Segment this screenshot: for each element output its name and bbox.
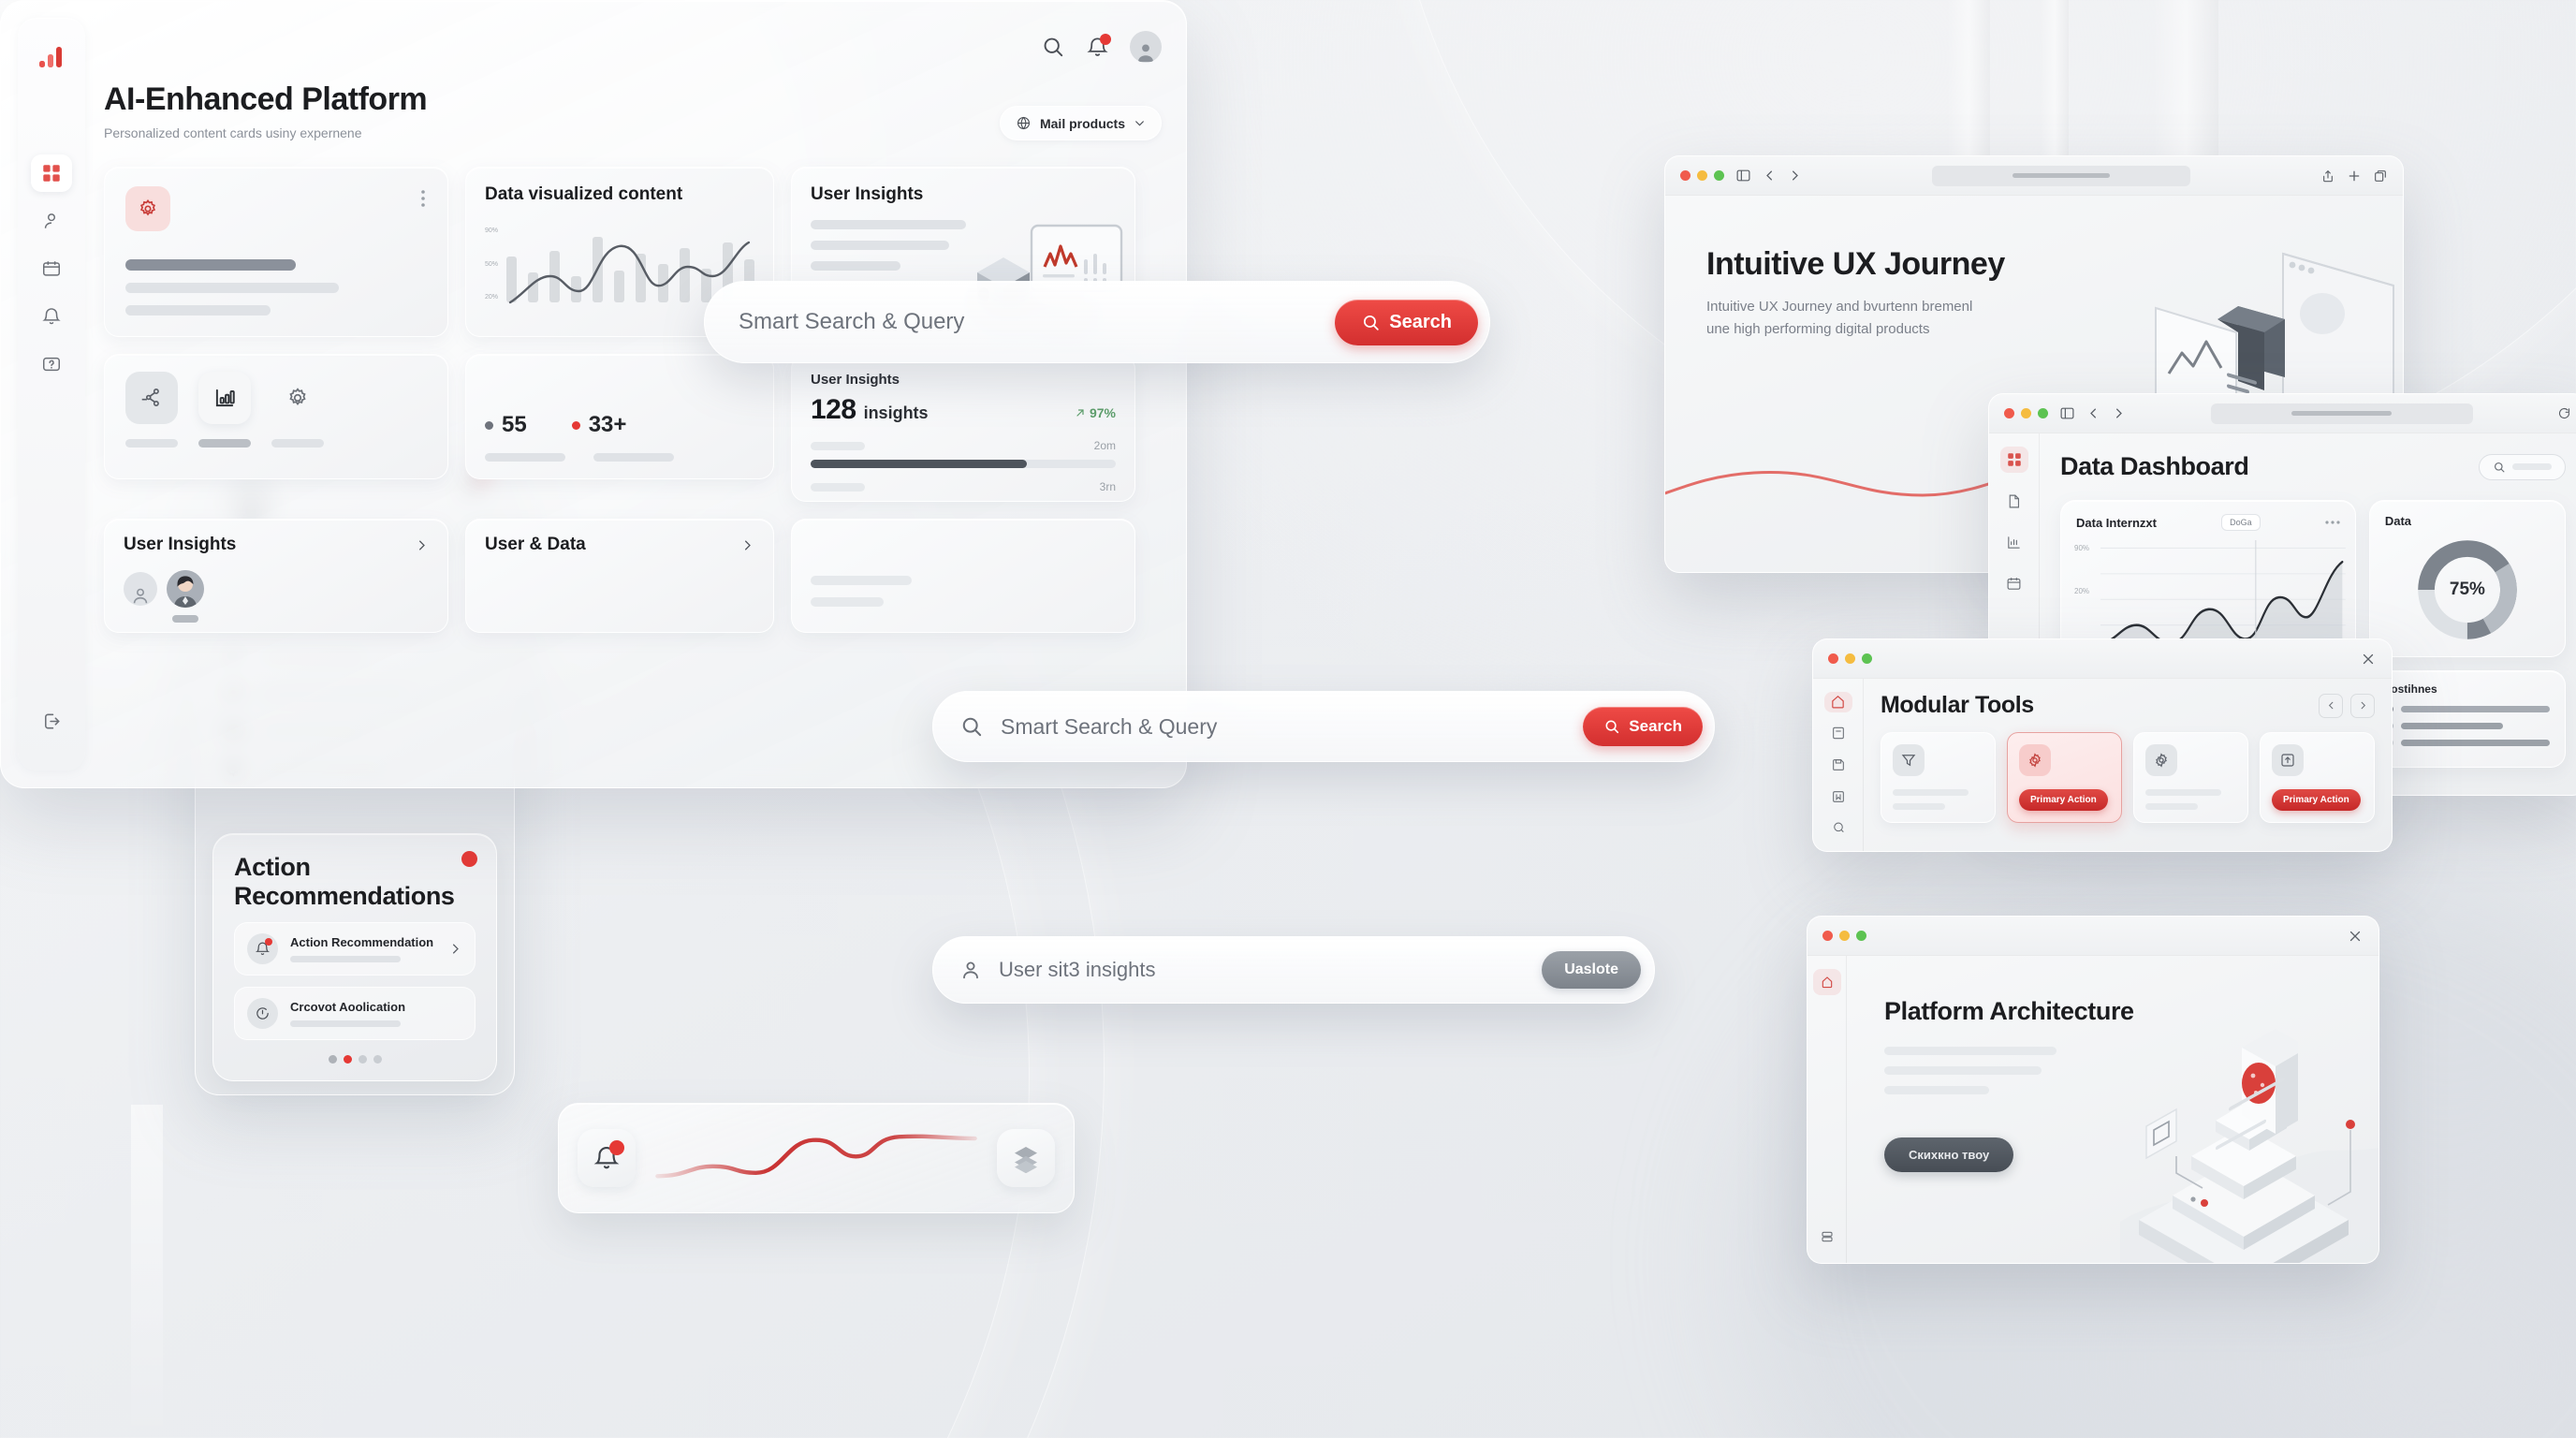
window-title: Data Dashboard xyxy=(2060,452,2248,481)
file-icon xyxy=(2006,493,2022,509)
close-traffic-light[interactable] xyxy=(2004,408,2014,418)
window-titlebar[interactable] xyxy=(1665,156,2403,196)
skeleton-line xyxy=(290,956,401,962)
node-graph-icon xyxy=(139,386,164,410)
sidebar-item-search-doc[interactable] xyxy=(1824,817,1852,838)
action-recommendations-card: Action Recommendations Action Recommenda… xyxy=(212,833,497,1081)
gear-icon xyxy=(137,198,159,220)
maximize-traffic-light[interactable] xyxy=(1862,653,1872,664)
sidebar-item-dashboard[interactable] xyxy=(31,154,72,192)
progress-track xyxy=(811,460,1116,468)
chevron-right-icon xyxy=(2358,700,2368,711)
address-bar[interactable] xyxy=(2211,404,2473,424)
skeleton-line xyxy=(125,305,271,315)
main-dashboard-panel: AI-Enhanced Platform Personalized conten… xyxy=(0,0,1187,788)
minimize-traffic-light[interactable] xyxy=(1839,931,1850,941)
chevron-right-icon[interactable] xyxy=(740,538,754,552)
gear-icon-tile xyxy=(125,186,170,231)
sidebar-item-calendar[interactable] xyxy=(2000,570,2028,596)
search-input-bottom[interactable]: User sit3 insights xyxy=(999,958,1525,982)
window-titlebar[interactable] xyxy=(1808,917,2378,956)
stat-dot xyxy=(485,421,493,430)
calendar-icon xyxy=(41,258,62,279)
card-title: Data Internzxt xyxy=(2076,516,2157,530)
sidebar-item-book[interactable] xyxy=(1824,786,1852,807)
save-icon xyxy=(1831,757,1846,772)
card-title: User & Data xyxy=(485,535,586,555)
grid-icon xyxy=(2006,451,2023,468)
close-icon[interactable] xyxy=(2347,928,2364,945)
skeleton-line xyxy=(811,220,966,229)
insights-unit: insights xyxy=(864,404,929,423)
chart-annotation-badge: DoGa xyxy=(2221,514,2261,531)
skeleton-line xyxy=(811,576,912,585)
user-icon xyxy=(130,585,151,606)
bell-button[interactable] xyxy=(578,1129,636,1187)
card-settings[interactable] xyxy=(104,167,448,337)
sidebar-item-database[interactable] xyxy=(1813,1224,1841,1250)
skeleton-line xyxy=(125,259,296,271)
cta-button-label: Cкиxкно твоу xyxy=(1909,1148,1989,1162)
dashboard-search-input[interactable] xyxy=(2479,454,2566,480)
card-stats[interactable]: 55 33+ xyxy=(465,354,774,479)
tool-card-filter[interactable] xyxy=(1881,732,1996,823)
filter-icon-tile xyxy=(1893,744,1925,776)
sidebar-item-grid[interactable] xyxy=(2000,447,2028,473)
chevron-left-icon xyxy=(2326,700,2336,711)
database-icon xyxy=(1820,1229,1835,1244)
skeleton-line xyxy=(1884,1047,2056,1055)
calendar-icon xyxy=(2006,576,2022,592)
export-icon-tile xyxy=(2272,744,2304,776)
donut-center-label: 75% xyxy=(2450,580,2485,600)
skeleton-line xyxy=(1893,789,1969,796)
globe-icon xyxy=(1016,115,1032,131)
user-icon xyxy=(959,959,982,981)
plus-icon[interactable] xyxy=(2347,169,2362,183)
window-title: Modular Tools xyxy=(1881,692,2034,719)
close-traffic-light[interactable] xyxy=(1822,931,1833,941)
update-button-label: Uaslote xyxy=(1564,961,1618,977)
address-bar[interactable] xyxy=(1932,166,2190,186)
bar-chart-icon xyxy=(212,386,237,410)
window-titlebar[interactable] xyxy=(1813,639,2392,679)
skeleton-line xyxy=(290,1020,401,1027)
tabs-icon[interactable] xyxy=(2373,169,2388,183)
user-avatar-button[interactable] xyxy=(1130,31,1162,63)
skeleton-line xyxy=(1884,1066,2042,1075)
chevron-down-icon xyxy=(1134,117,1146,129)
skeleton-line xyxy=(2512,463,2552,470)
user-photo-icon xyxy=(167,570,204,608)
architecture-sidebar xyxy=(1808,956,1847,1263)
close-traffic-light[interactable] xyxy=(1828,653,1838,664)
pager-dot[interactable] xyxy=(359,1055,367,1064)
search-bar-top[interactable]: Smart Search & Query Search xyxy=(704,281,1490,363)
user-avatar-icon xyxy=(1134,40,1157,63)
arrow-up-right-icon xyxy=(1075,407,1086,418)
search-icon[interactable] xyxy=(1041,35,1065,59)
home-icon xyxy=(1820,975,1835,990)
notification-trend-bar xyxy=(558,1103,1075,1213)
traffic-lights[interactable] xyxy=(1680,170,1724,181)
sparkline-chart xyxy=(652,1125,980,1191)
stat-value: 55 xyxy=(502,412,527,438)
tool-card-settings-selected[interactable]: Primary Action xyxy=(2007,732,2122,823)
filter-icon xyxy=(1900,752,1917,769)
bell-alert-icon-wrap xyxy=(247,933,278,964)
skeleton-line xyxy=(2145,789,2221,796)
stat-dot xyxy=(572,421,580,430)
card-title: Data visualized content xyxy=(485,184,754,205)
sidebar-item-charts[interactable] xyxy=(2000,529,2028,555)
skeleton-line xyxy=(811,241,949,250)
alert-dot xyxy=(265,938,272,946)
bar-chart-icon xyxy=(38,45,65,69)
tools-sidebar xyxy=(1813,679,1864,851)
insights-value: 128 xyxy=(811,394,856,426)
list-item[interactable] xyxy=(2385,705,2550,713)
chart-y-axis: 90% 50% 20% xyxy=(485,222,498,306)
file-icon xyxy=(1831,726,1846,741)
traffic-lights[interactable] xyxy=(1828,653,1872,664)
sidebar-item-help[interactable] xyxy=(31,345,72,383)
search-button-label: Search xyxy=(1389,312,1452,333)
book-icon xyxy=(1831,789,1846,804)
avatar[interactable] xyxy=(124,572,157,606)
chart-icon xyxy=(2006,535,2022,550)
window-titlebar[interactable] xyxy=(1989,394,2576,433)
skeleton-line xyxy=(2145,803,2198,810)
y-tick: 90% xyxy=(485,227,498,234)
sidebar-item-profile[interactable] xyxy=(31,202,72,240)
node-graph-icon-tile[interactable] xyxy=(125,372,178,424)
row-label: 2om xyxy=(1094,439,1116,452)
sidebar-icon[interactable] xyxy=(2059,405,2075,421)
card-title: Tostihnes xyxy=(2385,682,2550,696)
home-icon xyxy=(1830,694,1846,710)
skeleton-line xyxy=(125,283,339,293)
skeleton-line xyxy=(1893,803,1945,810)
search-bar-mid[interactable]: Smart Search & Query Search xyxy=(932,691,1715,762)
minimize-traffic-light[interactable] xyxy=(2021,408,2031,418)
dashboard-subheading: Personalized content cards usiny experne… xyxy=(104,125,427,140)
maximize-traffic-light[interactable] xyxy=(2038,408,2048,418)
gear-icon-tile xyxy=(2019,744,2051,776)
list-item[interactable] xyxy=(2385,739,2550,747)
update-button[interactable]: Uaslote xyxy=(1542,951,1641,989)
card-extra[interactable] xyxy=(791,519,1135,633)
search-button-mid[interactable]: Search xyxy=(1583,707,1703,746)
main-sidebar xyxy=(18,18,85,770)
primary-action-button[interactable]: Primary Action xyxy=(2019,789,2108,811)
bg-stripe-d xyxy=(131,1105,163,1438)
traffic-lights[interactable] xyxy=(1822,931,1866,941)
card-user-data[interactable]: User & Data xyxy=(465,519,774,633)
next-button[interactable] xyxy=(2350,694,2375,718)
pager-dots[interactable] xyxy=(234,1055,476,1064)
maximize-traffic-light[interactable] xyxy=(1714,170,1724,181)
gear-icon-tile[interactable] xyxy=(271,372,324,424)
skeleton-line xyxy=(198,439,251,448)
close-icon[interactable] xyxy=(2360,651,2377,668)
main-topbar xyxy=(104,25,1162,68)
window-body: Intuitive UX Journey and bvurtenn bremen… xyxy=(1706,296,1987,341)
window-modular-tools[interactable]: Modular Tools Primary Action xyxy=(1812,638,2393,852)
recommendation-item-application[interactable]: Crcovot Aoolication xyxy=(234,987,476,1040)
tool-card-export[interactable]: Primary Action xyxy=(2260,732,2375,823)
recommendations-title: Action Recommendations xyxy=(234,853,421,911)
skeleton-line xyxy=(811,483,865,492)
recommendation-label: Crcovot Aoolication xyxy=(290,1000,462,1014)
sidebar-item-save[interactable] xyxy=(1824,755,1852,775)
alert-badge xyxy=(461,851,477,867)
prev-button[interactable] xyxy=(2319,694,2343,718)
avatar-photo[interactable] xyxy=(167,570,204,608)
minimize-traffic-light[interactable] xyxy=(1697,170,1707,181)
gear-icon-tile xyxy=(2145,744,2177,776)
layers-icon xyxy=(1011,1143,1041,1173)
more-horizontal-icon[interactable] xyxy=(2325,521,2340,524)
y-tick: 20% xyxy=(2074,587,2089,595)
user-icon xyxy=(41,211,62,231)
y-tick: 90% xyxy=(2074,544,2089,552)
share-icon[interactable] xyxy=(2320,169,2335,183)
card-tostihnes[interactable]: Tostihnes xyxy=(2369,670,2566,768)
pager-dot-active[interactable] xyxy=(344,1055,352,1064)
area-chart xyxy=(2100,540,2346,649)
main-content: AI-Enhanced Platform Personalized conten… xyxy=(104,25,1162,769)
sidebar-item-logo[interactable] xyxy=(31,38,72,76)
skeleton-line xyxy=(811,597,884,607)
row-label: 3rn xyxy=(1100,480,1116,493)
filter-select-mail-products[interactable]: Mail products xyxy=(1000,106,1162,140)
layers-button[interactable] xyxy=(997,1129,1055,1187)
recommendation-item-action[interactable]: Action Recommendation xyxy=(234,922,476,976)
progress-fill xyxy=(811,460,1027,468)
list-item[interactable] xyxy=(2385,722,2550,730)
bg-stripe-c xyxy=(2153,0,2218,169)
filter-select-label: Mail products xyxy=(1040,116,1125,131)
chevron-right-icon xyxy=(448,942,462,956)
logout-icon xyxy=(41,711,63,732)
skeleton-line xyxy=(125,439,178,448)
refresh-circle-icon xyxy=(255,1005,271,1021)
card-title: Data xyxy=(2385,514,2550,528)
chevron-right-icon[interactable] xyxy=(415,538,429,552)
chevron-right-icon[interactable] xyxy=(2112,406,2126,420)
search-button-top[interactable]: Search xyxy=(1335,300,1478,345)
chevron-left-icon[interactable] xyxy=(2086,406,2100,420)
refresh-circle-icon-wrap xyxy=(247,998,278,1029)
sidebar-item-files[interactable] xyxy=(2000,488,2028,514)
gear-icon xyxy=(285,386,310,410)
help-icon xyxy=(41,354,62,374)
gear-icon xyxy=(2153,752,2170,769)
cta-button[interactable]: Cкиxкно твоу xyxy=(1884,1137,2013,1172)
bell-icon xyxy=(41,306,62,327)
search-icon xyxy=(1603,718,1620,735)
sidebar-item-home[interactable] xyxy=(1813,969,1841,995)
card-insights-stats[interactable]: User Insights 128 insights 97% 2om xyxy=(791,354,1135,502)
search-doc-icon xyxy=(1831,820,1846,835)
close-traffic-light[interactable] xyxy=(1680,170,1690,181)
more-vertical-icon[interactable] xyxy=(421,190,425,207)
search-icon xyxy=(2493,461,2506,474)
minimize-traffic-light[interactable] xyxy=(1845,653,1855,664)
notification-badge xyxy=(609,1140,624,1155)
status-pill xyxy=(172,615,198,623)
search-button-label: Search xyxy=(1629,717,1682,736)
y-tick: 20% xyxy=(485,294,498,301)
pager-dot[interactable] xyxy=(329,1055,337,1064)
skeleton-line xyxy=(1884,1086,1989,1094)
isometric-layers-illustration xyxy=(2111,1006,2378,1263)
chevron-right-icon[interactable] xyxy=(1788,169,1802,183)
notification-badge xyxy=(1100,34,1111,45)
skeleton-line xyxy=(811,442,865,450)
traffic-lights[interactable] xyxy=(2004,408,2048,418)
skeleton-line xyxy=(485,453,565,462)
card-user-insights-list[interactable]: User Insights xyxy=(104,519,448,633)
pager-dot[interactable] xyxy=(373,1055,382,1064)
search-icon xyxy=(1361,313,1381,332)
bar-chart-icon-tile[interactable] xyxy=(198,372,251,424)
card-title: User Insights xyxy=(124,535,236,555)
recommendation-label: Action Recommendation xyxy=(290,935,436,949)
card-data-donut[interactable]: Data 75% xyxy=(2369,500,2566,657)
card-data-internzxt[interactable]: Data Internzxt DoGa 90% 20% xyxy=(2060,500,2356,657)
card-title: User Insights xyxy=(811,372,1116,388)
card-tools[interactable] xyxy=(104,354,448,479)
window-platform-architecture[interactable]: Platform Architecture Cкиxкно твоу xyxy=(1807,916,2379,1264)
maximize-traffic-light[interactable] xyxy=(1856,931,1866,941)
sidebar-item-home[interactable] xyxy=(1824,692,1852,712)
gear-icon xyxy=(2027,752,2043,769)
search-icon xyxy=(959,714,984,739)
insights-delta: 97% xyxy=(1090,405,1116,420)
sidebar-icon[interactable] xyxy=(1735,168,1751,183)
skeleton-line xyxy=(271,439,324,448)
search-input-top[interactable]: Smart Search & Query xyxy=(739,309,1335,335)
tool-card-settings[interactable] xyxy=(2133,732,2248,823)
sidebar-item-file[interactable] xyxy=(1824,724,1852,744)
skeleton-line xyxy=(811,261,900,271)
stat-value: 33+ xyxy=(589,412,627,438)
dashboard-heading: AI-Enhanced Platform xyxy=(104,81,427,118)
search-input-mid[interactable]: Smart Search & Query xyxy=(1001,714,1566,740)
sidebar-item-logout[interactable] xyxy=(31,702,72,740)
chevron-left-icon[interactable] xyxy=(1763,169,1777,183)
card-title: User Insights xyxy=(811,184,1116,205)
search-bar-bottom[interactable]: User sit3 insights Uaslote xyxy=(932,936,1655,1004)
export-icon xyxy=(2279,752,2296,769)
primary-action-button[interactable]: Primary Action xyxy=(2272,789,2361,811)
reload-icon[interactable] xyxy=(2557,406,2571,420)
sidebar-item-notifications[interactable] xyxy=(31,298,72,335)
notification-bell-button[interactable] xyxy=(1086,36,1109,59)
grid-icon xyxy=(41,163,62,183)
sidebar-item-calendar[interactable] xyxy=(31,250,72,287)
y-tick: 50% xyxy=(485,261,498,268)
skeleton-line xyxy=(593,453,674,462)
